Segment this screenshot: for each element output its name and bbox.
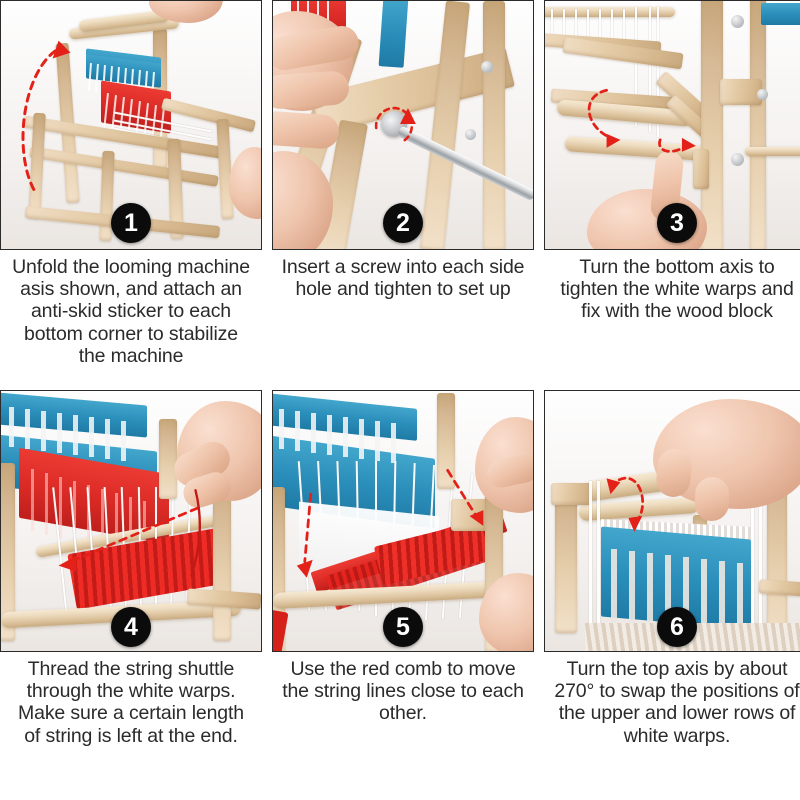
step-2-photo[interactable]: 2 [272, 0, 534, 250]
column-gap [262, 652, 272, 800]
step-4-number-badge: 4 [111, 607, 151, 647]
column-gap [534, 0, 544, 250]
step-3-photo-panel[interactable]: 3 [544, 0, 800, 250]
step-3-photo[interactable]: 3 [544, 0, 800, 250]
step-5-photo[interactable]: 5 [272, 390, 534, 652]
column-gap [534, 390, 544, 652]
column-gap [534, 250, 544, 390]
column-gap [534, 652, 544, 800]
column-gap [262, 0, 272, 250]
column-gap [262, 250, 272, 390]
step-4-caption: Thread the string shuttle through the wh… [0, 652, 262, 800]
instruction-sheet: 1 [0, 0, 800, 800]
step-2-photo-panel[interactable]: 2 [272, 0, 534, 250]
step-1-number-badge: 1 [111, 203, 151, 243]
step-5-photo-panel[interactable]: 5 [272, 390, 534, 652]
steps-grid: 1 [0, 0, 800, 800]
step-2-caption: Insert a screw into each side hole and t… [272, 250, 534, 390]
step-3-caption: Turn the bottom axis to tighten the whit… [544, 250, 800, 390]
step-5-caption: Use the red comb to move the string line… [272, 652, 534, 800]
step-1-photo[interactable]: 1 [0, 0, 262, 250]
step-4-photo-panel[interactable]: 4 [0, 390, 262, 652]
step-6-number-badge: 6 [657, 607, 697, 647]
step-6-photo-panel[interactable]: 6 [544, 390, 800, 652]
step-6-photo[interactable]: 6 [544, 390, 800, 652]
step-6-caption: Turn the top axis by about 270° to swap … [544, 652, 800, 800]
step-3-number-badge: 3 [657, 203, 697, 243]
step-5-number-badge: 5 [383, 607, 423, 647]
step-1-photo-panel[interactable]: 1 [0, 0, 262, 250]
step-4-photo[interactable]: 4 [0, 390, 262, 652]
step-2-number-badge: 2 [383, 203, 423, 243]
step-1-caption: Unfold the looming machine asis shown, a… [0, 250, 262, 390]
column-gap [262, 390, 272, 652]
